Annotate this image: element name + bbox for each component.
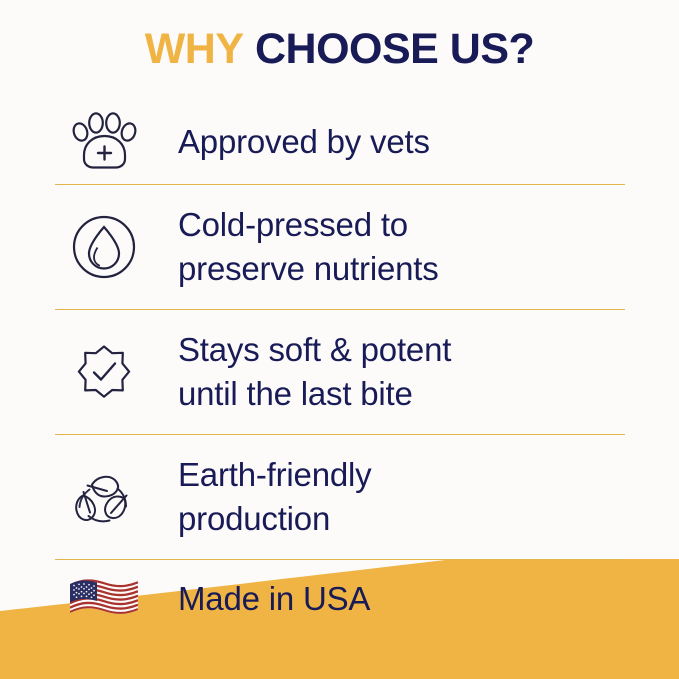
usa-flag-icon	[58, 576, 150, 622]
feature-list: Approved by vets Cold-pressed to preserv…	[0, 100, 679, 638]
page-title: WHY CHOOSE US?	[0, 26, 679, 73]
recycle-leaves-icon	[58, 465, 150, 529]
badge-check-icon	[58, 339, 150, 405]
why-choose-us-poster: WHY CHOOSE US? Approved by vets	[0, 0, 679, 679]
list-item-label: Earth-friendly production	[150, 453, 371, 541]
divider	[55, 559, 625, 560]
water-drop-circle-icon	[58, 214, 150, 280]
divider	[55, 309, 625, 310]
list-item-label: Stays soft & potent until the last bite	[150, 328, 451, 416]
list-item: Made in USA	[0, 560, 679, 638]
list-item: Earth-friendly production	[0, 435, 679, 559]
list-item-label: Cold-pressed to preserve nutrients	[150, 203, 439, 291]
list-item: Cold-pressed to preserve nutrients	[0, 185, 679, 309]
divider	[55, 184, 625, 185]
list-item-label: Made in USA	[150, 577, 370, 621]
divider	[55, 434, 625, 435]
paw-plus-icon	[58, 111, 150, 173]
page-title-gold-word: WHY	[145, 25, 244, 73]
page-title-navy-word: CHOOSE US?	[255, 25, 534, 73]
list-item: Stays soft & potent until the last bite	[0, 310, 679, 434]
list-item-label: Approved by vets	[150, 120, 430, 164]
list-item: Approved by vets	[0, 100, 679, 184]
